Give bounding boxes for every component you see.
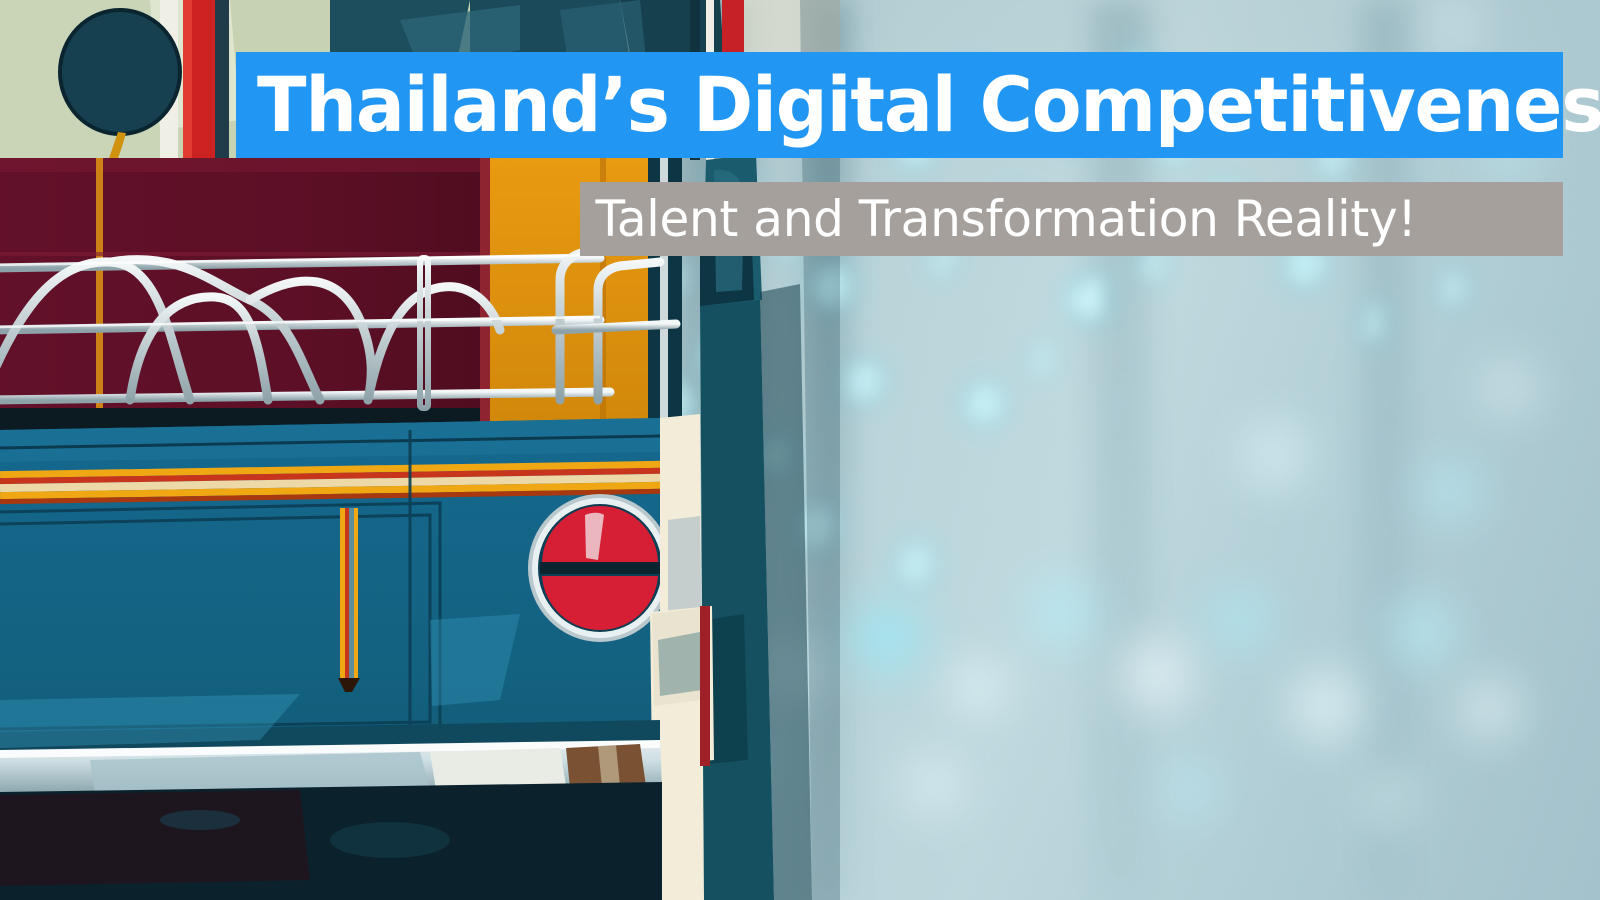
door-stripe xyxy=(338,508,360,692)
title-banner: Thailand’s Digital Competitiveness xyxy=(236,52,1563,158)
taillight xyxy=(530,496,670,640)
page-title: Thailand’s Digital Competitiveness xyxy=(236,67,1600,143)
page-subtitle: Talent and Transformation Reality! xyxy=(580,194,1417,244)
promo-banner-image: 0 1 0 1 0 0 0 1 0 4 2 0 0 1 0 0 4 1 1 0 … xyxy=(0,0,1600,900)
under-shadow xyxy=(0,782,662,900)
subtitle-banner: Talent and Transformation Reality! xyxy=(580,182,1563,256)
rear-post xyxy=(660,154,812,900)
